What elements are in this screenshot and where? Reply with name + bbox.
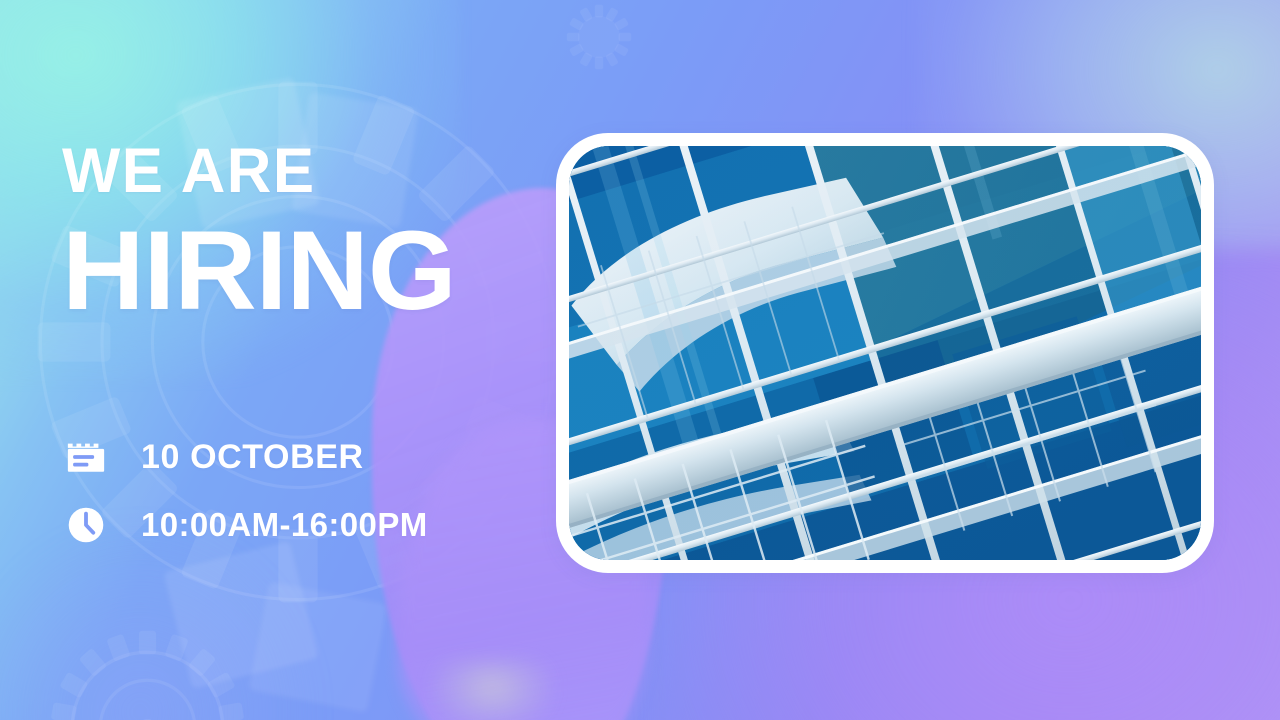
event-date-label: 10 OCTOBER bbox=[141, 438, 364, 477]
headline-line-1: WE ARE bbox=[62, 140, 440, 203]
event-time-label: 10:00AM-16:00PM bbox=[141, 506, 428, 544]
calendar-icon bbox=[64, 435, 108, 479]
photo-panel bbox=[556, 133, 1214, 573]
clock-icon bbox=[64, 503, 108, 547]
info-row-date: 10 OCTOBER bbox=[64, 430, 428, 484]
headline-block: WE ARE HIRING bbox=[62, 140, 448, 327]
page-title: HIRING bbox=[62, 215, 456, 327]
blob-highlight bbox=[432, 660, 552, 720]
photo-clip bbox=[569, 146, 1201, 560]
hiring-banner: WE ARE HIRING 10 OCTOBER 10 bbox=[0, 0, 1280, 720]
info-row-time: 10:00AM-16:00PM bbox=[64, 498, 428, 552]
office-building-photo bbox=[569, 146, 1201, 560]
event-info-list: 10 OCTOBER 10:00AM-16:00PM bbox=[64, 430, 428, 566]
